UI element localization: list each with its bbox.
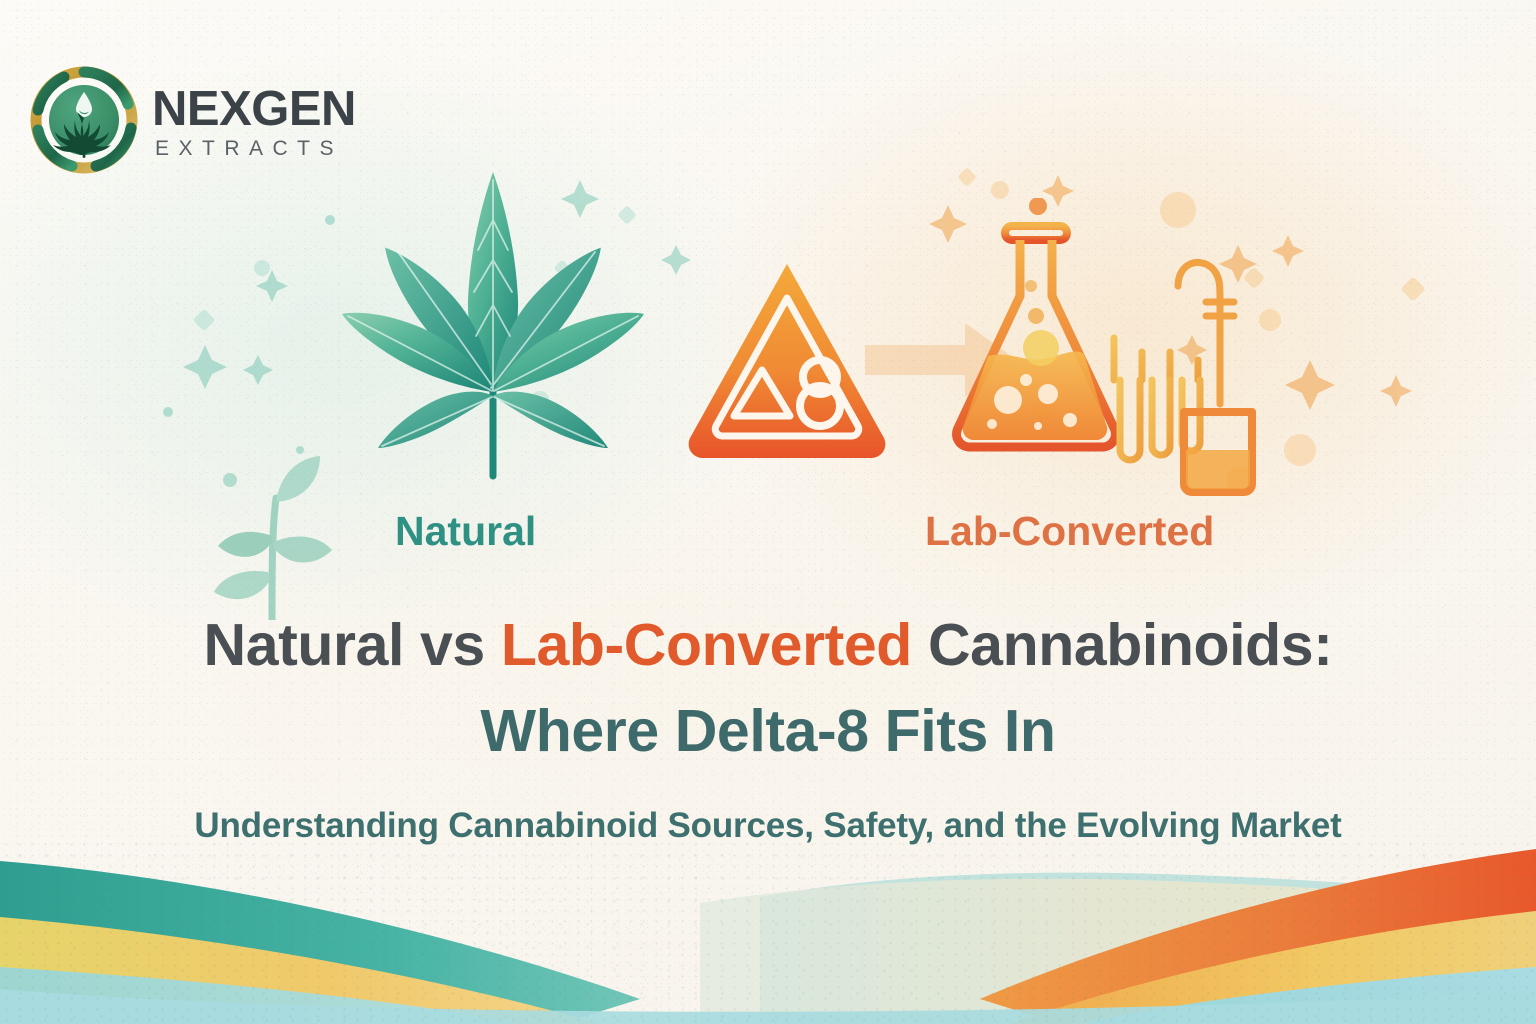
poster-canvas: NEXGEN EXTRACTS: [0, 0, 1536, 1024]
headline-line1-part1: Natural vs: [204, 612, 501, 678]
lab-equipment-illustration: [930, 198, 1270, 498]
label-natural: Natural: [395, 508, 536, 555]
bottom-wave-decoration: [0, 839, 1536, 1024]
brand-wordmark: NEXGEN EXTRACTS: [152, 85, 356, 159]
headline-line-1: Natural vs Lab-Converted Cannabinoids:: [0, 612, 1536, 678]
concept-illustration-row: Δ8: [0, 150, 1536, 510]
cannabis-leaf-illustration: [318, 160, 668, 490]
test-tube-rack-icon: [1106, 338, 1218, 460]
brand-name: NEXGEN: [152, 85, 356, 134]
wave-shapes: [0, 839, 1536, 1024]
headline-block: Natural vs Lab-Converted Cannabinoids: W…: [0, 612, 1536, 764]
cannabis-leaf-icon: [318, 160, 668, 490]
beaker-icon: [1184, 412, 1252, 492]
headline-line-2: Where Delta-8 Fits In: [0, 698, 1536, 764]
erlenmeyer-flask-icon: [957, 198, 1116, 447]
headline-line1-accent: Lab-Converted: [501, 612, 912, 678]
headline-line1-part2: Cannabinoids:: [912, 612, 1333, 678]
lab-equipment-group: [930, 198, 1270, 498]
category-labels: Natural Lab-Converted: [0, 508, 1536, 572]
label-lab-converted: Lab-Converted: [925, 508, 1214, 555]
